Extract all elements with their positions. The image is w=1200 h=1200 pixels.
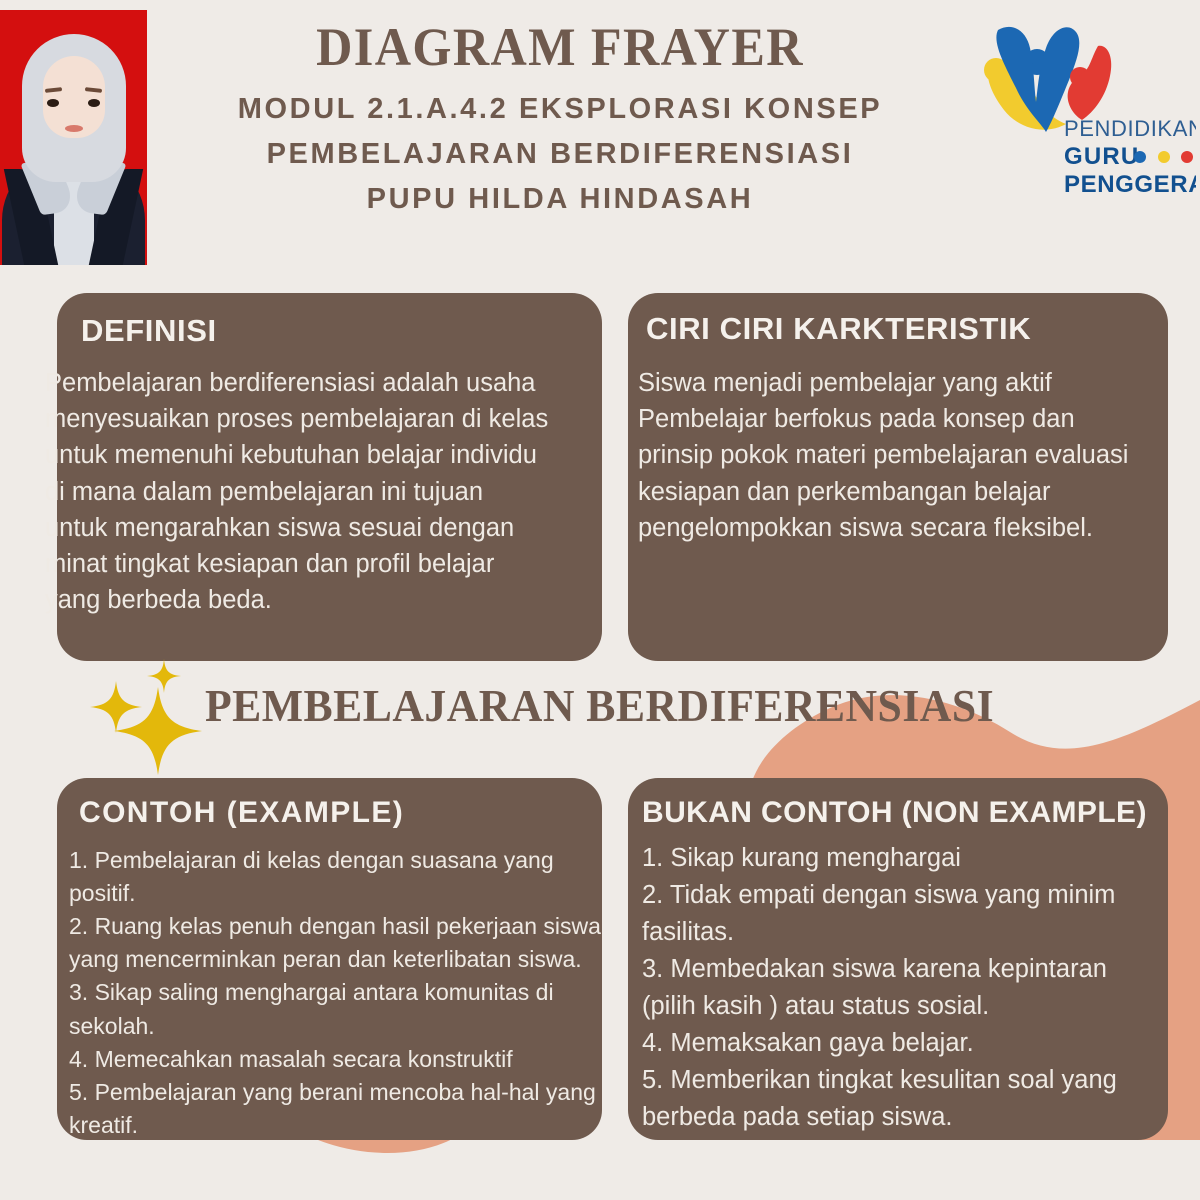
sparkle-medium [90, 681, 142, 733]
portrait-eye-right [88, 99, 100, 107]
subtitle-line-3: PUPU HILDA HINDASAH [160, 178, 960, 221]
portrait-eye-left [47, 99, 59, 107]
center-banner: PEMBELAJARAN BERDIFERENSIASI [0, 665, 1200, 775]
card-bukan-contoh-non-example: BUKAN CONTOH (NON EXAMPLE) 1. Sikap kura… [628, 778, 1168, 1140]
avatar [0, 10, 147, 265]
sparkle-icon [88, 659, 218, 779]
card-contoh-example: CONTOH (EXAMPLE) 1. Pembelajaran di kela… [57, 778, 602, 1140]
logo-dot-yellow [1158, 151, 1170, 163]
card-ciri-ciri-karkteristik: CIRI CIRI KARKTERISTIK Siswa menjadi pem… [628, 293, 1168, 661]
sparkle-small [147, 659, 181, 693]
card-contoh-body: 1. Pembelajaran di kelas dengan suasana … [69, 844, 664, 1142]
card-ciri-title: CIRI CIRI KARKTERISTIK [646, 311, 1031, 347]
card-definisi-body: Pembelajaran berdiferensiasi adalah usah… [45, 365, 620, 618]
sparkle-large [114, 687, 202, 775]
card-contoh-title: CONTOH (EXAMPLE) [79, 796, 404, 830]
header: DIAGRAM FRAYER MODUL 2.1.A.4.2 EKSPLORAS… [0, 0, 1200, 280]
title-block: DIAGRAM FRAYER MODUL 2.1.A.4.2 EKSPLORAS… [160, 18, 960, 221]
pendidikan-guru-penggerak-logo: PENDIDIKAN GURU PENGGERAK [974, 14, 1196, 204]
portrait-lips [65, 125, 83, 132]
card-bukan-contoh-body: 1. Sikap kurang menghargai 2. Tidak empa… [642, 840, 1200, 1136]
card-bukan-contoh-title: BUKAN CONTOH (NON EXAMPLE) [642, 796, 1147, 830]
subtitle-line-2: PEMBELAJARAN BERDIFERENSIASI [160, 133, 960, 176]
logo-dot-blue [1134, 151, 1146, 163]
logo-line-3: PENGGERAK [1064, 171, 1196, 198]
card-definisi: DEFINISI Pembelajaran berdiferensiasi ad… [57, 293, 602, 661]
subtitle-line-1: MODUL 2.1.A.4.2 EKSPLORASI KONSEP [160, 88, 960, 131]
banner-label: PEMBELAJARAN BERDIFERENSIASI [205, 679, 994, 732]
card-definisi-title: DEFINISI [81, 313, 217, 349]
logo-line-1: PENDIDIKAN [1064, 116, 1196, 141]
logo-line-2: GURU [1064, 143, 1139, 170]
card-ciri-body: Siswa menjadi pembelajar yang aktif Pemb… [638, 365, 1200, 546]
page-title: DIAGRAM FRAYER [188, 18, 932, 76]
logo-dot-red [1181, 151, 1193, 163]
